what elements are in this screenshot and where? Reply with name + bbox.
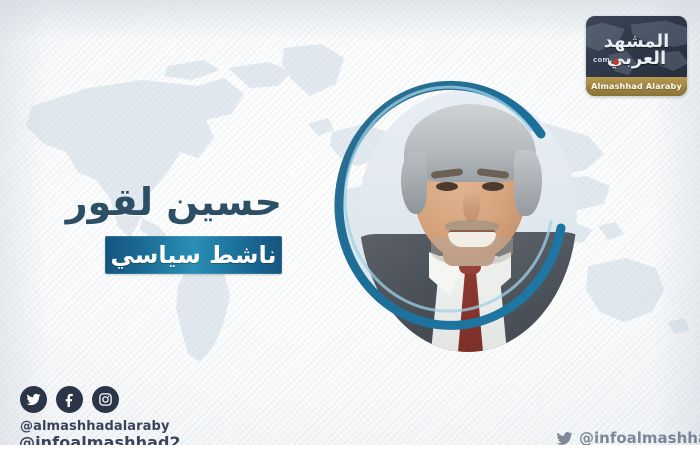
logo-name-band: Almashhad Alaraby [586, 77, 687, 96]
person-title-label: ناشط سياسي [111, 243, 277, 267]
logo-english-name: Almashhad Alaraby [591, 82, 682, 91]
logo-dot-icon [613, 59, 619, 65]
social-handle-primary[interactable]: @almashhadalaraby [20, 419, 170, 434]
bottom-white-strip [0, 445, 700, 459]
twitter-icon [556, 430, 573, 447]
portrait-container [345, 96, 591, 352]
person-title-badge: ناشط سياسي [105, 236, 282, 274]
channel-logo[interactable]: المشهد العربي com Almashhad Alaraby [586, 16, 687, 96]
social-icon-row [20, 386, 119, 413]
facebook-icon[interactable] [56, 386, 83, 413]
twitter-icon[interactable] [20, 386, 47, 413]
portrait-ring [345, 96, 591, 352]
media-card: حسين لقور ناشط سياسي المشهد العربي com A… [0, 0, 700, 459]
person-name: حسين لقور [20, 183, 282, 223]
logo-com-label: com [593, 56, 610, 64]
instagram-icon[interactable] [92, 386, 119, 413]
